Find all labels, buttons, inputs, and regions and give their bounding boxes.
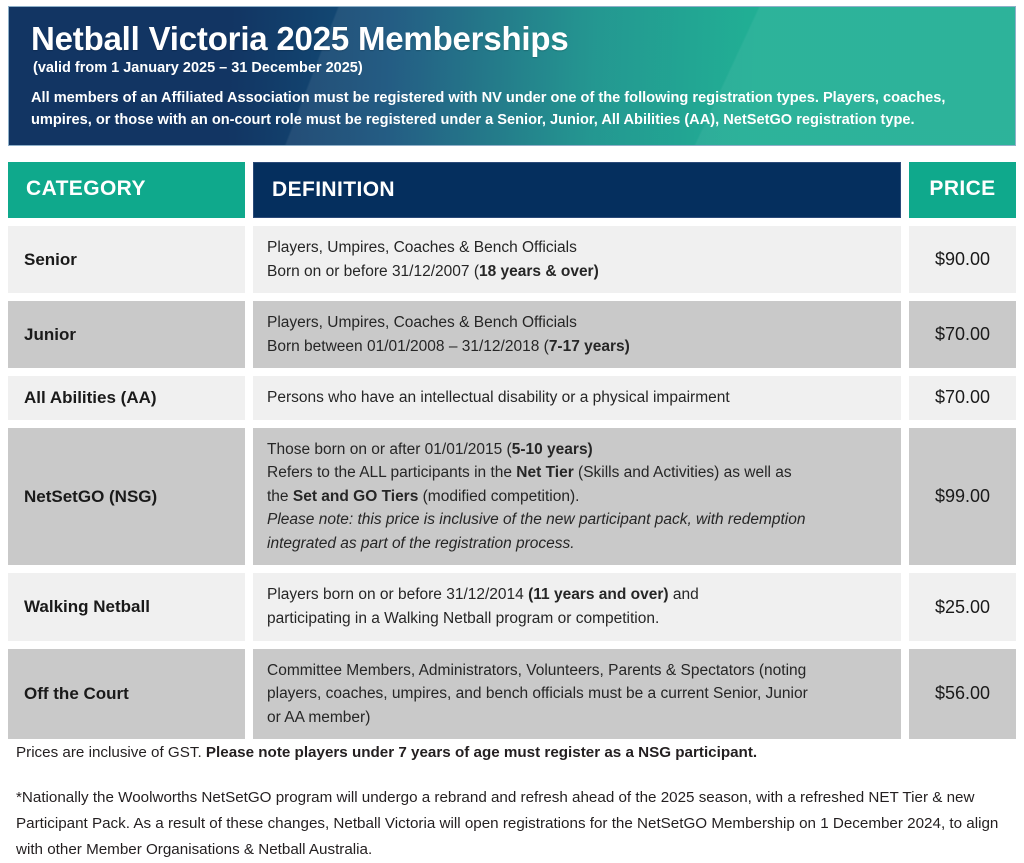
definition-line: players, coaches, umpires, and bench off… bbox=[267, 682, 808, 706]
definition-line: Persons who have an intellectual disabil… bbox=[267, 386, 730, 410]
category-label: All Abilities (AA) bbox=[8, 376, 245, 420]
definition-text: Players, Umpires, Coaches & Bench Offici… bbox=[253, 226, 901, 293]
definition-segment: Set and GO Tiers bbox=[293, 488, 418, 505]
row-cell-category: NetSetGO (NSG) bbox=[8, 428, 245, 566]
table-header-row: CATEGORY DEFINITION PRICE bbox=[8, 162, 1016, 218]
definition-segment: (Skills and Activities) as well as bbox=[574, 464, 792, 481]
category-label: Walking Netball bbox=[8, 573, 245, 640]
row-cell-price: $99.00 bbox=[909, 428, 1016, 566]
row-cell-category: Junior bbox=[8, 301, 245, 368]
definition-segment: Net Tier bbox=[516, 464, 573, 481]
definition-line: Born between 01/01/2008 – 31/12/2018 (7-… bbox=[267, 335, 630, 359]
definition-line: Born on or before 31/12/2007 (18 years &… bbox=[267, 260, 599, 284]
definition-line: Players born on or before 31/12/2014 (11… bbox=[267, 583, 699, 607]
definition-segment: Committee Members, Administrators, Volun… bbox=[267, 662, 806, 679]
row-cell-definition: Committee Members, Administrators, Volun… bbox=[253, 649, 901, 740]
table-row: Walking NetballPlayers born on or before… bbox=[8, 573, 1016, 640]
definition-segment: Refers to the ALL participants in the bbox=[267, 464, 516, 481]
table-row: All Abilities (AA)Persons who have an in… bbox=[8, 376, 1016, 420]
row-cell-definition: Players born on or before 31/12/2014 (11… bbox=[253, 573, 901, 640]
header-cell-price: PRICE bbox=[909, 162, 1016, 218]
row-cell-definition: Players, Umpires, Coaches & Bench Offici… bbox=[253, 301, 901, 368]
membership-price-sheet: Netball Victoria 2025 Memberships (valid… bbox=[0, 0, 1024, 856]
header-label-price: PRICE bbox=[909, 162, 1016, 216]
header-label-definition: DEFINITION bbox=[254, 163, 900, 217]
category-label: Senior bbox=[8, 226, 245, 293]
definition-segment: participating in a Walking Netball progr… bbox=[267, 610, 659, 627]
definition-line: or AA member) bbox=[267, 706, 808, 730]
row-cell-definition: Those born on or after 01/01/2015 (5-10 … bbox=[253, 428, 901, 566]
row-cell-definition: Persons who have an intellectual disabil… bbox=[253, 376, 901, 420]
definition-segment: integrated as part of the registration p… bbox=[267, 535, 575, 552]
gst-note-plain: Prices are inclusive of GST. bbox=[16, 744, 206, 761]
category-label: NetSetGO (NSG) bbox=[8, 428, 245, 566]
header-cell-definition: DEFINITION bbox=[253, 162, 901, 218]
definition-segment: Players, Umpires, Coaches & Bench Offici… bbox=[267, 239, 577, 256]
header-cell-category: CATEGORY bbox=[8, 162, 245, 218]
definition-segment: 7-17 years) bbox=[549, 338, 630, 355]
definition-line: integrated as part of the registration p… bbox=[267, 532, 805, 556]
definition-line: Players, Umpires, Coaches & Bench Offici… bbox=[267, 311, 630, 335]
definition-line: participating in a Walking Netball progr… bbox=[267, 607, 699, 631]
definition-text: Players, Umpires, Coaches & Bench Offici… bbox=[253, 301, 901, 368]
definition-line: Those born on or after 01/01/2015 (5-10 … bbox=[267, 438, 805, 462]
definition-text: Players born on or before 31/12/2014 (11… bbox=[253, 573, 901, 640]
definition-text: Persons who have an intellectual disabil… bbox=[253, 376, 901, 420]
definition-segment: Players born on or before 31/12/2014 bbox=[267, 586, 528, 603]
definition-line: Refers to the ALL participants in the Ne… bbox=[267, 461, 805, 485]
row-cell-category: All Abilities (AA) bbox=[8, 376, 245, 420]
price-value: $70.00 bbox=[909, 301, 1016, 368]
price-value: $70.00 bbox=[909, 376, 1016, 420]
table-row: NetSetGO (NSG)Those born on or after 01/… bbox=[8, 428, 1016, 566]
definition-segment: and bbox=[669, 586, 699, 603]
row-cell-category: Off the Court bbox=[8, 649, 245, 740]
footer-notes: Prices are inclusive of GST. Please note… bbox=[16, 742, 1012, 863]
table-body: SeniorPlayers, Umpires, Coaches & Bench … bbox=[8, 226, 1016, 739]
table-row: SeniorPlayers, Umpires, Coaches & Bench … bbox=[8, 226, 1016, 293]
banner-description: All members of an Affiliated Association… bbox=[31, 87, 986, 131]
definition-segment: Those born on or after 01/01/2015 ( bbox=[267, 441, 512, 458]
definition-line: Please note: this price is inclusive of … bbox=[267, 508, 805, 532]
definition-segment: players, coaches, umpires, and bench off… bbox=[267, 685, 808, 702]
category-label: Junior bbox=[8, 301, 245, 368]
table-row: Off the CourtCommittee Members, Administ… bbox=[8, 649, 1016, 740]
price-value: $99.00 bbox=[909, 428, 1016, 566]
definition-segment: Born between 01/01/2008 – 31/12/2018 ( bbox=[267, 338, 549, 355]
price-value: $25.00 bbox=[909, 573, 1016, 640]
price-value: $56.00 bbox=[909, 649, 1016, 740]
row-cell-price: $25.00 bbox=[909, 573, 1016, 640]
definition-segment: the bbox=[267, 488, 293, 505]
table-row: JuniorPlayers, Umpires, Coaches & Bench … bbox=[8, 301, 1016, 368]
row-cell-price: $70.00 bbox=[909, 376, 1016, 420]
definition-segment: or AA member) bbox=[267, 709, 370, 726]
definition-text: Those born on or after 01/01/2015 (5-10 … bbox=[253, 428, 901, 566]
definition-segment: Please note: this price is inclusive of … bbox=[267, 511, 805, 528]
definition-segment: Players, Umpires, Coaches & Bench Offici… bbox=[267, 314, 577, 331]
page-title: Netball Victoria 2025 Memberships bbox=[31, 21, 993, 57]
row-cell-price: $56.00 bbox=[909, 649, 1016, 740]
row-cell-price: $90.00 bbox=[909, 226, 1016, 293]
header-label-category: CATEGORY bbox=[8, 162, 245, 216]
row-cell-price: $70.00 bbox=[909, 301, 1016, 368]
row-cell-definition: Players, Umpires, Coaches & Bench Offici… bbox=[253, 226, 901, 293]
membership-table: CATEGORY DEFINITION PRICE SeniorPlayers,… bbox=[8, 162, 1016, 747]
gst-note-bold: Please note players under 7 years of age… bbox=[206, 744, 757, 761]
definition-segment: 18 years & over) bbox=[479, 263, 599, 280]
validity-period: (valid from 1 January 2025 – 31 December… bbox=[33, 59, 993, 77]
definition-segment: (modified competition). bbox=[418, 488, 579, 505]
definition-line: Players, Umpires, Coaches & Bench Offici… bbox=[267, 236, 599, 260]
definition-line: the Set and GO Tiers (modified competiti… bbox=[267, 485, 805, 509]
category-label: Off the Court bbox=[8, 649, 245, 740]
netsetgo-rebrand-note: *Nationally the Woolworths NetSetGO prog… bbox=[16, 785, 1006, 863]
row-cell-category: Senior bbox=[8, 226, 245, 293]
definition-text: Committee Members, Administrators, Volun… bbox=[253, 649, 901, 740]
gst-note: Prices are inclusive of GST. Please note… bbox=[16, 742, 1012, 765]
definition-segment: Born on or before 31/12/2007 ( bbox=[267, 263, 479, 280]
definition-segment: (11 years and over) bbox=[528, 586, 668, 603]
row-cell-category: Walking Netball bbox=[8, 573, 245, 640]
price-value: $90.00 bbox=[909, 226, 1016, 293]
definition-segment: Persons who have an intellectual disabil… bbox=[267, 389, 730, 406]
header-banner: Netball Victoria 2025 Memberships (valid… bbox=[8, 6, 1016, 146]
definition-segment: 5-10 years) bbox=[512, 441, 593, 458]
definition-line: Committee Members, Administrators, Volun… bbox=[267, 659, 808, 683]
